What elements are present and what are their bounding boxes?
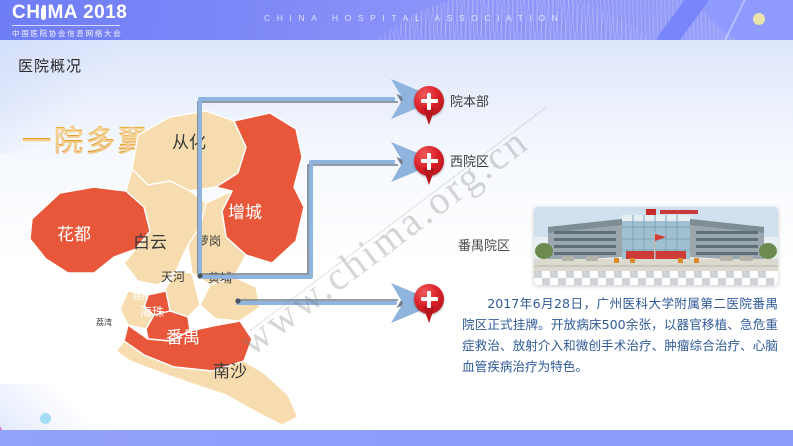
- person-pin-icon: [40, 5, 47, 20]
- logo-wordmark: CHMA 2018: [12, 3, 124, 23]
- hospital-pin-icon-west: [414, 146, 444, 186]
- logo-text-after: MA 2018: [47, 2, 127, 23]
- map-label-huadu: 花都: [57, 220, 91, 245]
- guangzhou-district-map: 从化 花都 增城 白云 萝岗 天河 黄埔 越秀 海珠 荔湾 番禺 南沙: [20, 95, 340, 425]
- map-label-baiyun: 白云: [133, 228, 167, 253]
- campus-label-panyu: 番禺院区: [458, 235, 510, 254]
- hospital-pin-icon-panyu: [414, 284, 444, 324]
- footer-dot-icon: [40, 413, 51, 424]
- map-label-huangpu: 黄埔: [208, 269, 232, 286]
- map-label-zengcheng: 增城: [228, 198, 262, 223]
- page-title: 医院概况: [18, 55, 82, 76]
- map-label-liwan: 荔湾: [96, 317, 112, 328]
- logo-text-before: CH: [12, 2, 40, 23]
- map-label-tianhe: 天河: [161, 268, 185, 285]
- logo-chinese-subtitle: 中国医院协会信息网络大会: [12, 28, 124, 39]
- map-label-nansha: 南沙: [213, 357, 247, 382]
- header-association-name: CHINA HOSPITAL ASSOCIATION: [264, 13, 564, 23]
- photo-illustration: [534, 207, 778, 285]
- header-gold-dot-icon: [753, 13, 765, 25]
- map-label-conghua: 从化: [172, 128, 206, 153]
- page-header: CHMA 2018 中国医院协会信息网络大会 CHINA HOSPITAL AS…: [0, 0, 793, 40]
- map-label-panyu: 番禺: [166, 323, 200, 348]
- hospital-pin-icon-main: [414, 86, 444, 126]
- panyu-campus-photo: [534, 207, 778, 285]
- footer-corner-wash: [0, 384, 110, 430]
- map-label-yuexiu: 越秀: [133, 291, 149, 302]
- chima-logo: CHMA 2018 中国医院协会信息网络大会: [12, 3, 124, 37]
- campus-label-main: 院本部: [450, 91, 489, 110]
- map-label-haizhu: 海珠: [140, 303, 164, 320]
- body-paragraph: 2017年6月28日，广州医科大学附属第二医院番禺院区正式挂牌。开放病床500余…: [462, 293, 778, 377]
- map-label-luogang: 萝岗: [197, 232, 221, 249]
- campus-label-west: 西院区: [450, 151, 489, 170]
- slide-canvas: CHMA 2018 中国医院协会信息网络大会 CHINA HOSPITAL AS…: [0, 0, 793, 446]
- logo-divider: [12, 25, 120, 26]
- page-footer-bar: [0, 430, 793, 446]
